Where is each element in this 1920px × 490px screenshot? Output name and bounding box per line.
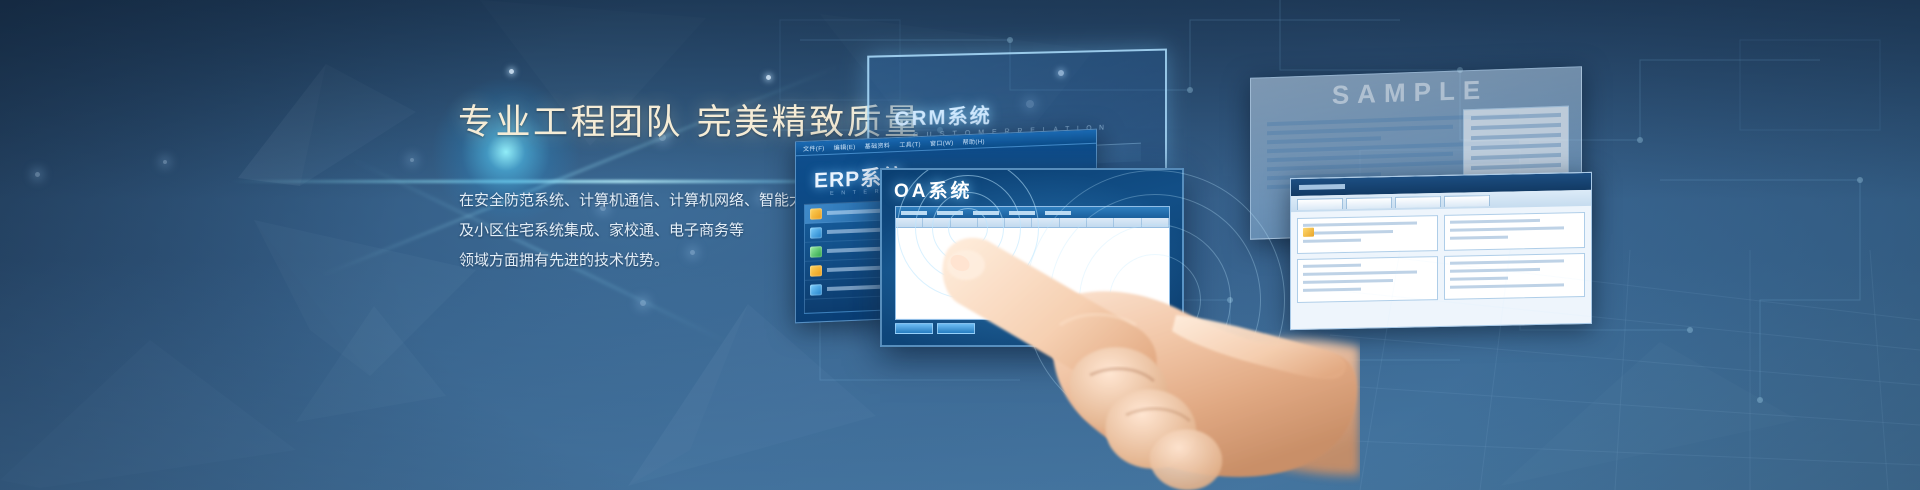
crm-window-title: CRM系统: [894, 99, 991, 132]
description-paragraph: 在安全防范系统、计算机通信、计算机网络、智能大厦 及小区住宅系统集成、家校通、电…: [459, 185, 799, 275]
erp-menu-item[interactable]: 窗口(W): [930, 138, 954, 148]
tag-icon: [810, 246, 822, 258]
folder-icon: [810, 208, 822, 220]
bokeh-dot: [410, 158, 414, 162]
oa-toolbar-button[interactable]: [895, 323, 933, 334]
description-line: 在安全防范系统、计算机通信、计算机网络、智能大厦: [459, 185, 799, 215]
oa-window-title: OA系统: [894, 176, 973, 203]
box-icon: [810, 284, 822, 296]
description-line: 领域方面拥有先进的技术优势。: [459, 245, 799, 275]
perspective-grid-icon: [1330, 250, 1920, 490]
report-tab[interactable]: [1444, 195, 1490, 207]
report-tab[interactable]: [1297, 198, 1343, 210]
report-tab[interactable]: [1346, 197, 1392, 209]
coin-icon: [810, 265, 822, 277]
cart-icon: [810, 227, 822, 239]
pointing-hand: [940, 215, 1360, 490]
bokeh-dot: [163, 160, 167, 164]
report-card: [1444, 212, 1585, 251]
bokeh-dot: [35, 172, 40, 177]
bokeh-dot: [509, 69, 514, 74]
erp-menu-item[interactable]: 帮助(H): [963, 136, 985, 146]
erp-menu-item[interactable]: 文件(F): [803, 143, 825, 153]
erp-menu-item[interactable]: 基础资料: [865, 140, 891, 150]
banner-hero: 专业工程团队 完美精致质量 在安全防范系统、计算机通信、计算机网络、智能大厦 及…: [0, 0, 1920, 490]
erp-menu-item[interactable]: 编辑(E): [834, 142, 856, 152]
erp-menu-item[interactable]: 工具(T): [899, 139, 921, 149]
description-line: 及小区住宅系统集成、家校通、电子商务等: [459, 215, 799, 245]
report-tab[interactable]: [1395, 196, 1441, 208]
